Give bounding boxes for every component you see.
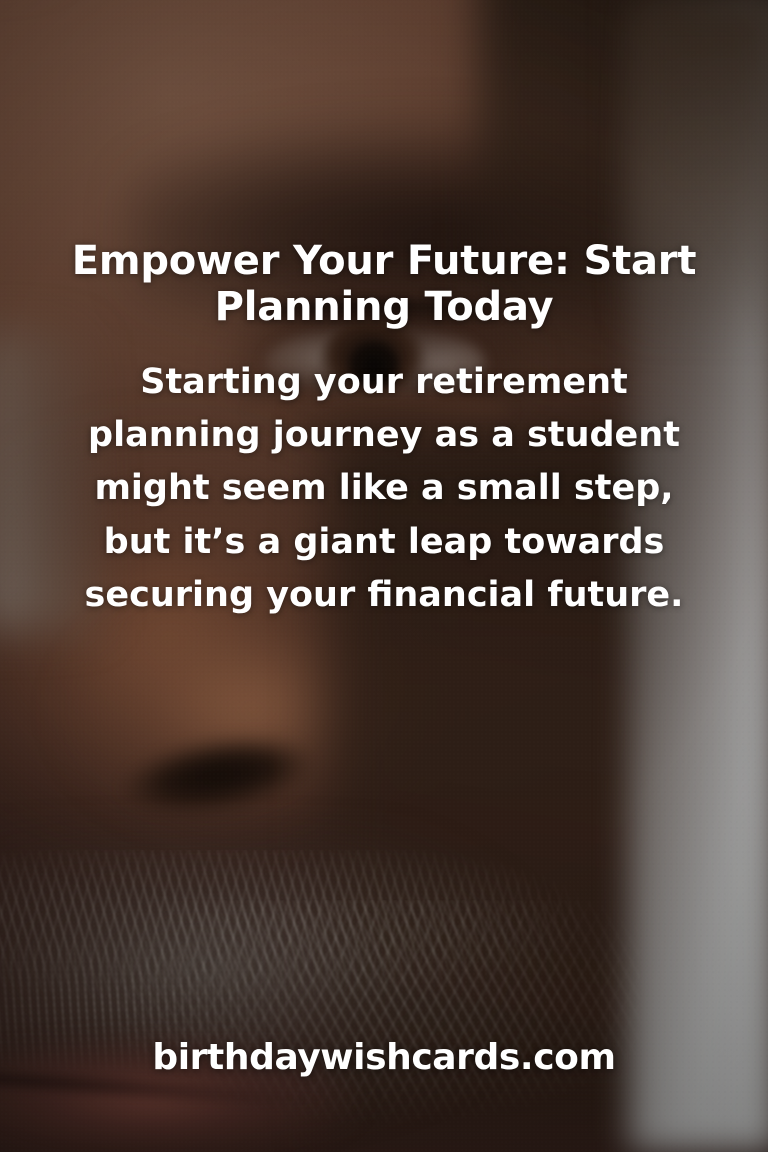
body-paragraph: Starting your retirement planning journe… — [56, 356, 712, 622]
quote-card: Empower Your Future: Start Planning Toda… — [0, 0, 768, 1152]
text-overlay: Empower Your Future: Start Planning Toda… — [0, 0, 768, 1152]
website-url: birthdaywishcards.com — [0, 1036, 768, 1079]
page-title: Empower Your Future: Start Planning Toda… — [48, 238, 720, 331]
